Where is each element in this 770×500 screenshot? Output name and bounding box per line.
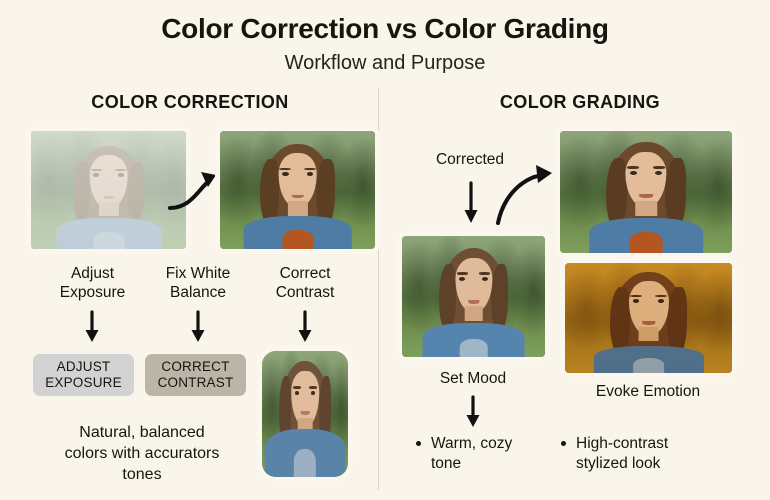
chip-adjust-exposure[interactable]: ADJUST EXPOSURE — [33, 354, 134, 396]
infographic-canvas: Color Correction vs Color Grading Workfl… — [0, 0, 770, 500]
photo-final-corrected-portrait — [262, 351, 348, 477]
section-heading-color-grading: COLOR GRADING — [420, 92, 740, 113]
arrow-down-icon — [464, 395, 482, 429]
left-panel-summary: Natural, balanced colors with accurators… — [26, 422, 258, 485]
step-label-adjust-exposure: Adjust Exposure — [35, 264, 150, 302]
arrow-down-icon — [83, 310, 101, 344]
step-label-fix-white-balance: Fix White Balance — [143, 264, 253, 302]
caption-set-mood: Set Mood — [413, 369, 533, 388]
bullet-dot-icon — [416, 441, 421, 446]
photo-corrected-portrait — [220, 131, 375, 249]
panel-divider — [378, 88, 379, 490]
page-subtitle: Workflow and Purpose — [0, 52, 770, 75]
photo-graded-green-portrait — [560, 131, 732, 253]
bullet-dot-icon — [561, 441, 566, 446]
section-heading-color-correction: COLOR CORRECTION — [30, 92, 350, 113]
photo-warm-graded-portrait — [565, 263, 732, 373]
caption-evoke-emotion: Evoke Emotion — [578, 382, 718, 401]
photo-flat-ungraded-portrait — [31, 131, 186, 249]
step-label-correct-contrast: Correct Contrast — [250, 264, 360, 302]
arrow-down-icon — [296, 310, 314, 344]
arrow-down-icon — [189, 310, 207, 344]
bullet-warm-cozy-tone: Warm, cozy tone — [416, 434, 556, 474]
bullet-high-contrast-stylized-look: High-contrast stylized look — [561, 434, 736, 474]
photo-mood-portrait — [402, 236, 545, 357]
chip-correct-contrast[interactable]: CORRECT CONTRAST — [145, 354, 246, 396]
arrow-down-icon — [462, 181, 480, 225]
curved-arrow-right-icon — [494, 163, 564, 227]
page-title: Color Correction vs Color Grading — [0, 13, 770, 45]
